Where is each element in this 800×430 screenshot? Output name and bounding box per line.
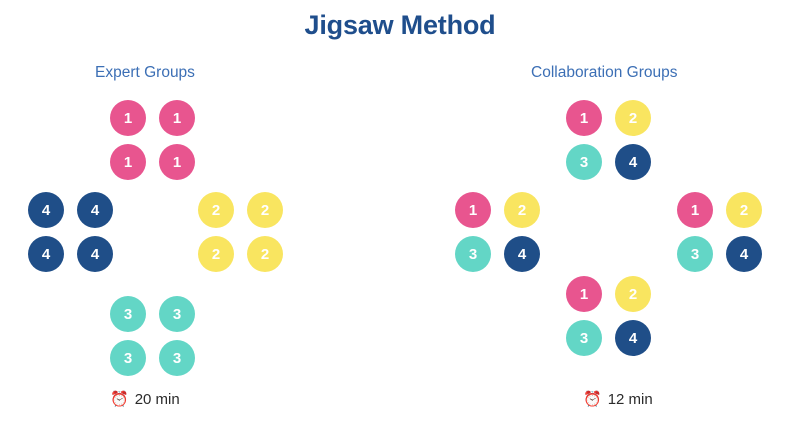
member-token-2: 2 — [198, 192, 234, 228]
group-cluster-collaboration-bottom: 1234 — [566, 276, 651, 356]
member-token-3: 3 — [110, 340, 146, 376]
alarm-clock-icon: ⏰ — [110, 392, 129, 407]
group-cluster-expert-top: 1111 — [110, 100, 195, 180]
group-cluster-collaboration-right: 1234 — [677, 192, 762, 272]
member-token-3: 3 — [159, 340, 195, 376]
member-token-3: 3 — [566, 320, 602, 356]
member-token-4: 4 — [77, 236, 113, 272]
member-token-1: 1 — [110, 100, 146, 136]
member-token-3: 3 — [677, 236, 713, 272]
member-token-2: 2 — [247, 192, 283, 228]
group-cluster-expert-right: 2222 — [198, 192, 283, 272]
panel-heading-expert-groups: Expert Groups — [95, 64, 195, 82]
timer-expert-groups: ⏰ 20 min — [110, 391, 180, 408]
page-title: Jigsaw Method — [0, 10, 800, 41]
member-token-2: 2 — [504, 192, 540, 228]
group-cluster-collaboration-top: 1234 — [566, 100, 651, 180]
diagram-canvas: Jigsaw Method Expert Groups ⏰ 20 min Col… — [0, 0, 800, 430]
timer-collaboration-groups: ⏰ 12 min — [583, 391, 653, 408]
member-token-1: 1 — [677, 192, 713, 228]
member-token-2: 2 — [615, 276, 651, 312]
member-token-2: 2 — [247, 236, 283, 272]
alarm-clock-icon: ⏰ — [583, 392, 602, 407]
member-token-4: 4 — [28, 236, 64, 272]
member-token-3: 3 — [159, 296, 195, 332]
member-token-2: 2 — [726, 192, 762, 228]
member-token-1: 1 — [159, 100, 195, 136]
member-token-2: 2 — [198, 236, 234, 272]
member-token-4: 4 — [615, 320, 651, 356]
member-token-2: 2 — [615, 100, 651, 136]
panel-heading-collaboration-groups: Collaboration Groups — [531, 64, 677, 82]
member-token-3: 3 — [566, 144, 602, 180]
timer-label: 12 min — [608, 391, 653, 408]
member-token-1: 1 — [159, 144, 195, 180]
group-cluster-expert-bottom: 3333 — [110, 296, 195, 376]
group-cluster-expert-left: 4444 — [28, 192, 113, 272]
member-token-3: 3 — [110, 296, 146, 332]
member-token-1: 1 — [455, 192, 491, 228]
group-cluster-collaboration-left: 1234 — [455, 192, 540, 272]
member-token-1: 1 — [566, 100, 602, 136]
timer-label: 20 min — [135, 391, 180, 408]
member-token-4: 4 — [726, 236, 762, 272]
member-token-4: 4 — [504, 236, 540, 272]
member-token-4: 4 — [28, 192, 64, 228]
member-token-1: 1 — [110, 144, 146, 180]
member-token-4: 4 — [77, 192, 113, 228]
member-token-1: 1 — [566, 276, 602, 312]
member-token-3: 3 — [455, 236, 491, 272]
member-token-4: 4 — [615, 144, 651, 180]
